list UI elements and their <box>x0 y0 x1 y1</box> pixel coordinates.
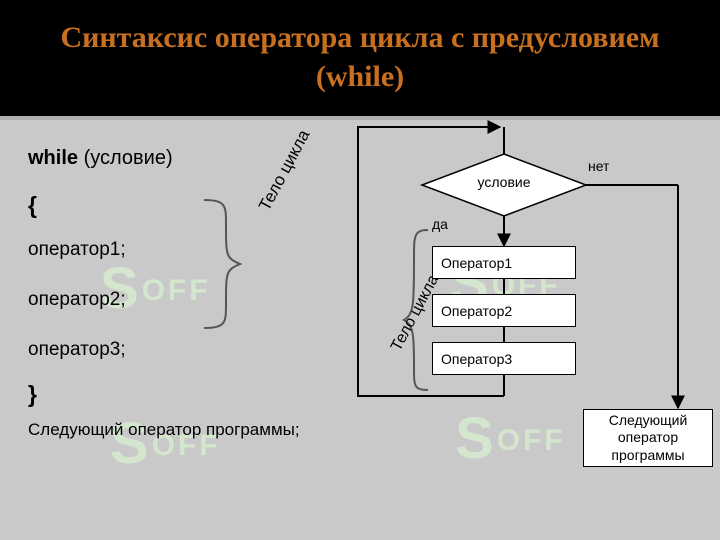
slide-canvas: SOFF SOFF SOFF SOFF SOFF SOFF Синтаксис … <box>0 0 720 540</box>
flow-node-op2: Оператор2 <box>432 294 576 327</box>
branch-label-no: нет <box>588 158 609 174</box>
code-line-close-brace: } <box>28 383 37 406</box>
code-line-next-statement: Следующий оператор программы; <box>28 421 300 438</box>
flow-node-next-statement: Следующий оператор программы <box>583 409 713 467</box>
code-line-open-brace: { <box>28 194 37 217</box>
code-line-while: while (условие) <box>28 148 173 168</box>
code-line-statement-2: оператор2; <box>28 290 126 309</box>
flow-node-op1: Оператор1 <box>432 246 576 279</box>
flowchart: условие нет да Тело цикла Оператор1 Опер… <box>340 118 720 498</box>
code-line-statement-3: оператор3; <box>28 340 126 359</box>
code-line-statement-1: оператор1; <box>28 240 126 259</box>
flow-node-next-statement-line2: оператор <box>618 429 678 447</box>
slide-footer-strip <box>0 519 720 540</box>
page-title: Синтаксис оператора цикла с предусловием… <box>60 18 660 96</box>
code-brace-bracket <box>196 196 316 396</box>
flow-node-next-statement-line1: Следующий <box>609 412 688 430</box>
code-keyword-while: while <box>28 147 78 169</box>
code-while-condition: (условие) <box>78 147 173 169</box>
flow-node-op3: Оператор3 <box>432 342 576 375</box>
branch-label-yes: да <box>432 216 448 232</box>
decision-condition-label: условие <box>444 174 564 190</box>
flow-node-next-statement-line3: программы <box>611 447 684 465</box>
